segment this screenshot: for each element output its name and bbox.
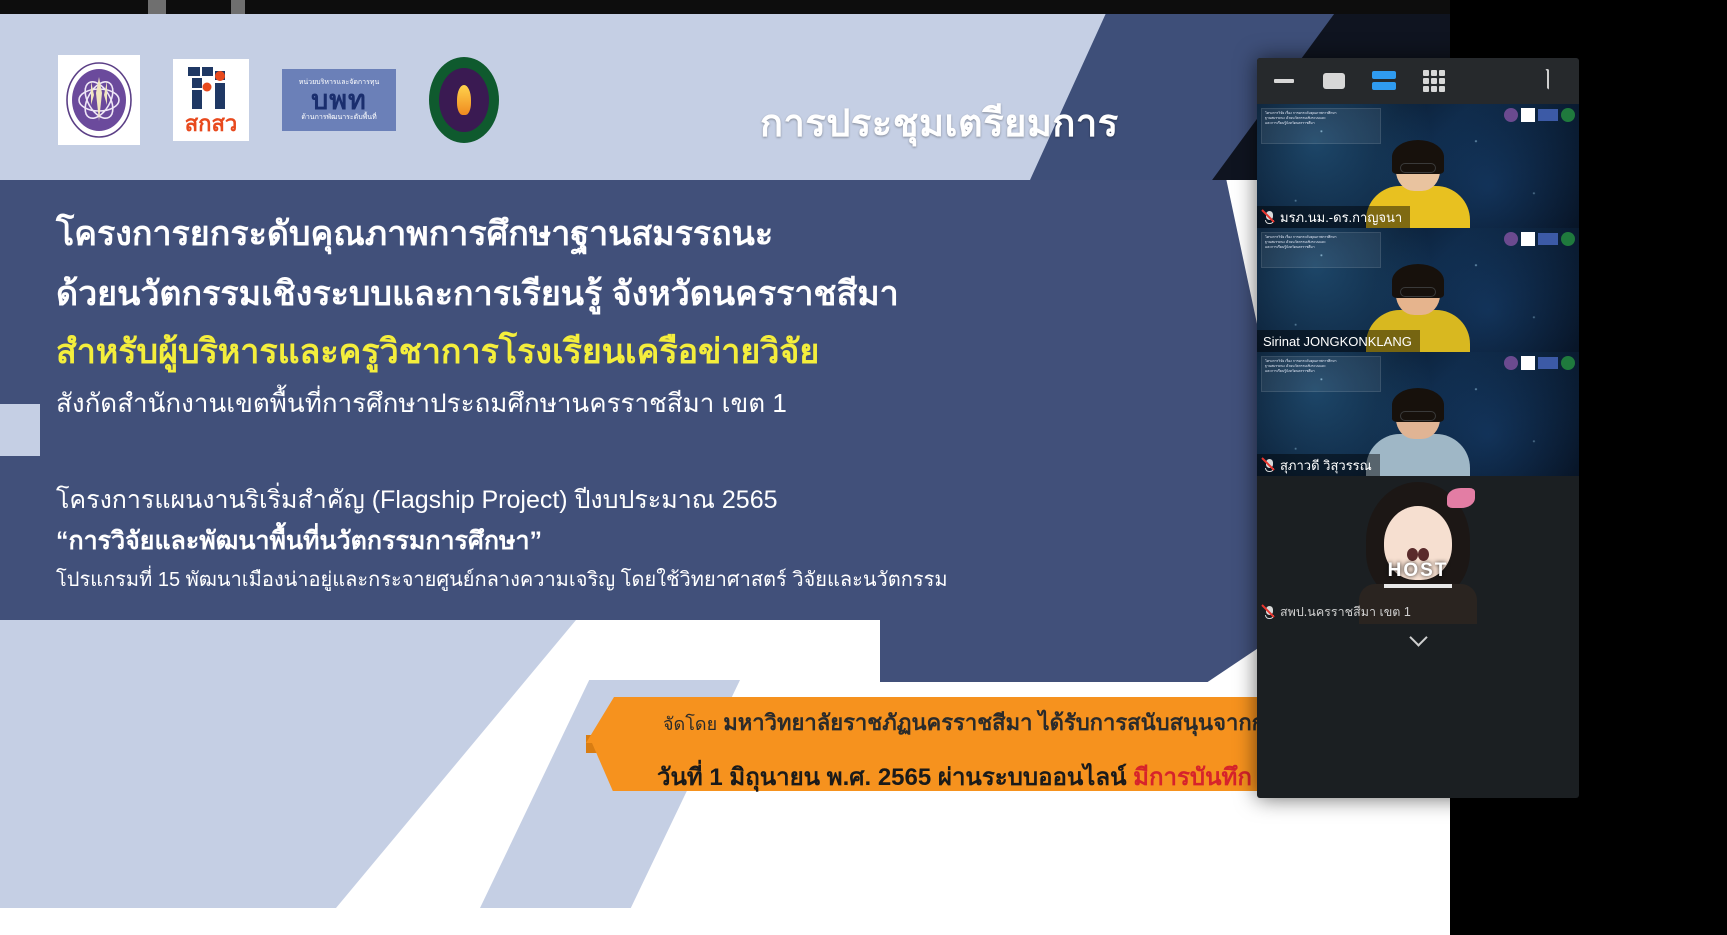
bpp-bottom-text: ด้านการพัฒนาระดับพื้นที่ (301, 114, 376, 122)
screen-root: สกสว หน่วยบริหารและจัดการทุน บพท ด้านการ… (0, 0, 1727, 935)
chevron-down-icon[interactable] (1410, 628, 1426, 644)
top-strip-segment-2 (231, 0, 245, 14)
slide-left-accent-chip (0, 404, 40, 456)
thumb-logo-seal-icon-2 (1561, 232, 1575, 246)
gallery-view-icon (1423, 70, 1445, 92)
mute-icon-1 (1263, 210, 1276, 225)
speaker-view-icon (1372, 71, 1396, 91)
participant-tile-3[interactable]: โครงการวิจัย เรื่อง การยกระดับคุณภาพการศ… (1257, 352, 1579, 476)
mute-icon-host (1263, 605, 1276, 620)
event-date-text: วันที่ 1 มิถุนายน พ.ศ. 2565 ผ่านระบบออนไ… (657, 757, 1307, 796)
tile-logo-row-1 (1504, 108, 1575, 122)
thumb-logo-bpp-icon-2 (1538, 233, 1558, 245)
gallery-view-button[interactable] (1421, 71, 1447, 91)
host-avatar-tile[interactable]: HOST สพป.นครราชสีมา เขต 1 (1257, 476, 1579, 648)
participant-2-name: Sirinat JONGKONKLANG (1263, 334, 1412, 349)
speaker-view-button[interactable] (1371, 71, 1397, 91)
tile-slide-thumbnail-3: โครงการวิจัย เรื่อง การยกระดับคุณภาพการศ… (1261, 356, 1381, 392)
tsri-mark-icon (184, 65, 238, 111)
participant-name-label-3: สุภาวดี วิสุวรรณ (1257, 454, 1380, 476)
event-date: วันที่ 1 มิถุนายน พ.ศ. 2565 ผ่านระบบออนไ… (657, 764, 1127, 791)
zoom-video-panel[interactable]: โครงการวิจัย เรื่อง การยกระดับคุณภาพการศ… (1257, 58, 1579, 798)
slide-title-line-1: โครงการยกระดับคุณภาพการศึกษาฐานสมรรถนะ (56, 206, 773, 260)
host-badge-underline (1384, 584, 1452, 588)
seal-flame-icon (457, 85, 471, 115)
slide-program-quote: “การวิจัยและพัฒนาพื้นที่นวัตกรรมการศึกษา… (56, 521, 542, 561)
glasses-1 (1400, 163, 1436, 173)
slide-program-detail: โปรแกรมที่ 15 พัฒนาเมืองน่าอยู่และกระจาย… (56, 563, 948, 595)
bpp-logo: หน่วยบริหารและจัดการทุน บพท ด้านการพัฒนา… (282, 69, 396, 131)
thumb-logo-seal-icon (1561, 108, 1575, 122)
minimize-button[interactable] (1271, 71, 1297, 91)
tile-slide-thumbnail-1: โครงการวิจัย เรื่อง การยกระดับคุณภาพการศ… (1261, 108, 1381, 144)
nrru-seal-logo (429, 57, 499, 143)
thumb-logo-emblem-icon-3 (1504, 356, 1518, 370)
host-name-label: สพป.นครราชสีมา เขต 1 (1257, 602, 1411, 622)
participant-tile-1[interactable]: โครงการวิจัย เรื่อง การยกระดับคุณภาพการศ… (1257, 104, 1579, 228)
exit-fullscreen-icon (1545, 69, 1549, 90)
host-badge: HOST (1388, 560, 1449, 582)
slide-subtitle-affiliation: สังกัดสำนักงานเขตพื้นที่การศึกษาประถมศึก… (56, 383, 787, 424)
organizer-lead: จัดโดย (663, 714, 717, 734)
mute-icon-3 (1263, 458, 1276, 473)
glasses-3 (1400, 411, 1436, 421)
participant-name-label-2: Sirinat JONGKONKLANG (1257, 330, 1420, 352)
nrru-science-emblem-logo (58, 55, 140, 145)
bpp-wordmark: บพท (311, 87, 367, 114)
thumb-line-1c: และการเรียนรู้จังหวัดนครราชสีมา (1265, 121, 1377, 126)
tile-logo-row-2 (1504, 232, 1575, 246)
organizer-name: มหาวิทยาลัยราชภัฏนครราชสีมา ได้รับการสนั… (723, 710, 1318, 735)
thumb-logo-emblem-icon (1504, 108, 1518, 122)
exit-fullscreen-button[interactable] (1545, 71, 1567, 89)
science-emblem-icon (64, 61, 134, 139)
zoom-toolbar (1257, 58, 1579, 104)
thumb-logo-tsri-icon (1521, 108, 1535, 122)
avatar-bow-icon (1447, 488, 1475, 508)
maximize-button[interactable] (1321, 71, 1347, 91)
slide-title-line-3-highlight: สำหรับผู้บริหารและครูวิชาการโรงเรียนเครื… (56, 324, 819, 378)
participant-name-label-1: มรภ.นม.-ดร.กาญจนา (1257, 206, 1410, 228)
tsri-wordmark: สกสว (185, 113, 238, 135)
thumb-line-2c: และการเรียนรู้จังหวัดนครราชสีมา (1265, 245, 1377, 250)
slide-header-title: การประชุมเตรียมการ (760, 92, 1220, 153)
thumb-line-3c: และการเรียนรู้จังหวัดนครราชสีมา (1265, 369, 1377, 374)
slide-flagship-line: โครงการแผนงานริเริ่มสำคัญ (Flagship Proj… (56, 480, 778, 520)
glasses-2 (1400, 287, 1436, 297)
thumb-logo-emblem-icon-2 (1504, 232, 1518, 246)
participant-silhouette-3 (1366, 391, 1470, 476)
logo-row: สกสว หน่วยบริหารและจัดการทุน บพท ด้านการ… (58, 55, 499, 145)
thumb-logo-bpp-icon-3 (1538, 357, 1558, 369)
host-name: สพป.นครราชสีมา เขต 1 (1280, 602, 1411, 622)
participant-3-name: สุภาวดี วิสุวรรณ (1280, 455, 1372, 476)
slide-title-line-2: ด้วยนวัตกรรมเชิงระบบและการเรียนรู้ จังหว… (56, 266, 899, 320)
nrru-seal-inner (439, 68, 489, 132)
tile-slide-thumbnail-2: โครงการวิจัย เรื่อง การยกระดับคุณภาพการศ… (1261, 232, 1381, 268)
participant-tile-2[interactable]: โครงการวิจัย เรื่อง การยกระดับคุณภาพการศ… (1257, 228, 1579, 352)
slide-top-strip (0, 0, 1450, 14)
desktop-background-bottom (0, 908, 1450, 935)
thumb-logo-tsri-icon-2 (1521, 232, 1535, 246)
thumb-logo-tsri-icon-3 (1521, 356, 1535, 370)
tsri-logo: สกสว (173, 59, 249, 141)
organizer-text: จัดโดย มหาวิทยาลัยราชภัฏนครราชสีมา ได้รั… (663, 705, 1303, 740)
recording-note: มีการบันทึก (1133, 764, 1252, 791)
maximize-icon (1323, 73, 1345, 89)
thumb-logo-seal-icon-3 (1561, 356, 1575, 370)
top-strip-segment-1 (148, 0, 166, 14)
participant-1-name: มรภ.นม.-ดร.กาญจนา (1280, 207, 1402, 228)
shared-screen-slide: สกสว หน่วยบริหารและจัดการทุน บพท ด้านการ… (0, 0, 1450, 908)
thumb-logo-bpp-icon (1538, 109, 1558, 121)
tile-logo-row-3 (1504, 356, 1575, 370)
slide-lower-navy-wedge (880, 620, 1300, 682)
minimize-icon (1274, 79, 1294, 83)
